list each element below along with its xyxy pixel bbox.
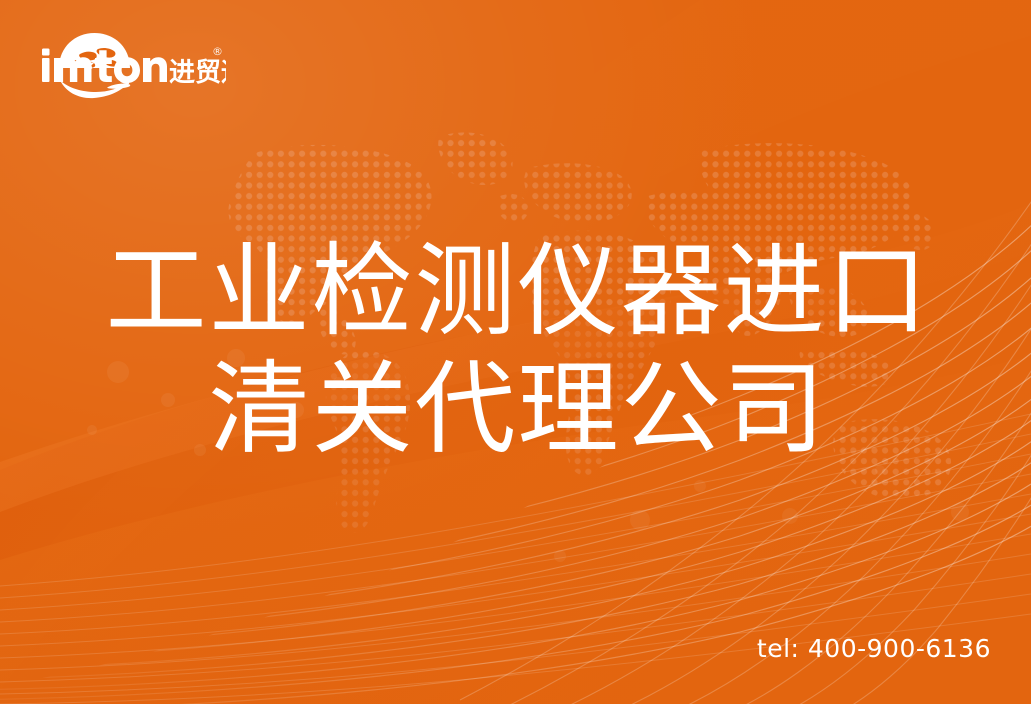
contact-phone[interactable]: tel: 400-900-6136 bbox=[757, 634, 991, 663]
company-logo[interactable]: 进贸通 ® bbox=[36, 27, 226, 99]
headline-line-1: 工业检测仪器进口 bbox=[4, 232, 1031, 350]
logo-chinese-name: 进贸通 bbox=[169, 58, 226, 88]
promo-banner: 进贸通 ® 工业检测仪器进口 清关代理公司 tel: 400-900-6136 bbox=[0, 0, 1031, 704]
trademark-symbol: ® bbox=[212, 45, 223, 58]
headline-line-2: 清关代理公司 bbox=[4, 350, 1031, 468]
headline: 工业检测仪器进口 清关代理公司 bbox=[0, 232, 1031, 468]
